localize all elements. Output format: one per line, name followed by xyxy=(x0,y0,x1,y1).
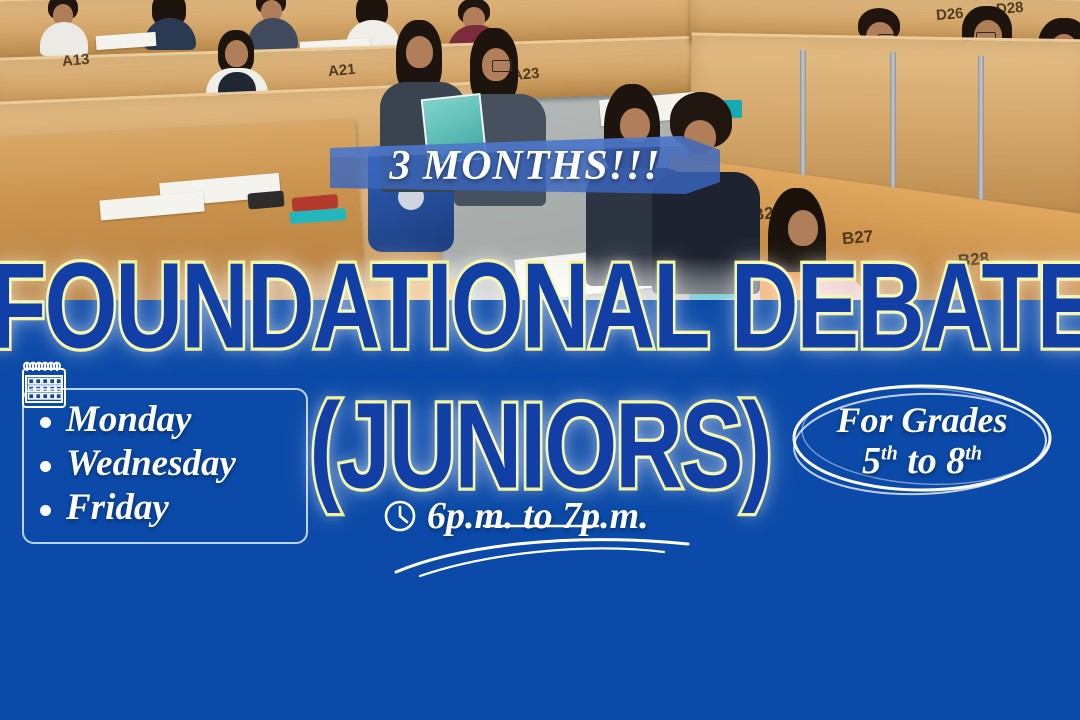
grades-line2: 5th to 8th xyxy=(862,442,982,480)
desk-label: A13 xyxy=(61,51,90,70)
time-underline-swoosh xyxy=(388,520,718,580)
photo-stationery xyxy=(247,190,284,209)
photo-desk-leg xyxy=(978,56,984,220)
duration-banner-label: 3 MONTHS!!! xyxy=(330,134,720,198)
desk-label: D26 xyxy=(935,5,964,24)
schedule-days-list: Monday Wednesday Friday xyxy=(34,398,236,530)
list-item-day: Wednesday xyxy=(66,442,236,486)
grades-middle: to 8 xyxy=(898,440,966,482)
list-item-day: Monday xyxy=(66,398,236,442)
page-title-line1: FOUNDATIONAL DEBATE xyxy=(0,238,1080,377)
poster-canvas: A13 A21 A23 A17 A19 xyxy=(0,0,1080,720)
grades-badge-text: For Grades 5th to 8th xyxy=(786,378,1058,504)
duration-banner: 3 MONTHS!!! xyxy=(330,136,720,200)
grades-sup-2: th xyxy=(965,442,982,464)
grades-line1: For Grades xyxy=(836,402,1007,438)
list-item-day: Friday xyxy=(66,486,236,530)
grades-prefix: 5 xyxy=(862,440,881,482)
status-badge: For Grades 5th to 8th xyxy=(786,378,1058,504)
grades-sup-1: th xyxy=(881,442,898,464)
desk-label: A21 xyxy=(327,61,356,80)
